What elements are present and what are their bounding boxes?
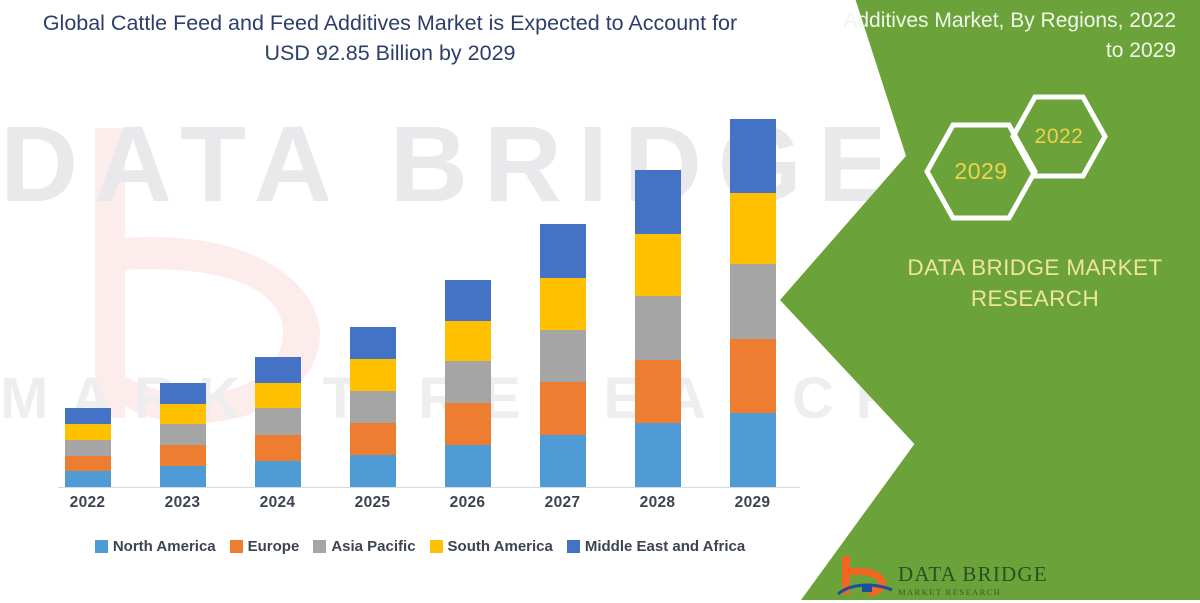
bar-segment[interactable]: [65, 424, 111, 440]
bar-segment[interactable]: [540, 382, 586, 434]
bar-segment[interactable]: [350, 327, 396, 359]
bar-segment[interactable]: [65, 408, 111, 424]
x-axis-label: 2023: [135, 494, 230, 512]
bridge-logo-icon: [836, 554, 894, 598]
legend-swatch: [430, 540, 443, 553]
bar-slot: [40, 110, 135, 487]
hexagon-badge-end: 2029: [925, 123, 1037, 220]
stacked-bar[interactable]: [445, 280, 491, 487]
chart-legend: North AmericaEuropeAsia PacificSouth Ame…: [40, 538, 800, 555]
bar-slot: [610, 110, 705, 487]
bar-segment[interactable]: [350, 359, 396, 390]
bar-segment[interactable]: [255, 357, 301, 383]
bar-segment[interactable]: [65, 440, 111, 456]
footer-logo: DATA BRIDGE MARKET RESEARCH: [836, 554, 1166, 600]
stacked-bar[interactable]: [255, 357, 301, 487]
bar-segment[interactable]: [540, 435, 586, 487]
x-axis-label: 2024: [230, 494, 325, 512]
x-axis-label: 2022: [40, 494, 135, 512]
x-axis-label: 2027: [515, 494, 610, 512]
plot-area: [40, 110, 800, 487]
bar-segment[interactable]: [255, 408, 301, 434]
bar-segment[interactable]: [635, 296, 681, 360]
bar-segment[interactable]: [730, 339, 776, 412]
bar-segment[interactable]: [730, 193, 776, 264]
bar-segment[interactable]: [730, 264, 776, 339]
bar-segment[interactable]: [255, 435, 301, 461]
stacked-bar[interactable]: [635, 170, 681, 487]
bar-segment[interactable]: [445, 361, 491, 403]
bar-segment[interactable]: [540, 278, 586, 330]
bar-segment[interactable]: [540, 330, 586, 382]
x-axis-label: 2026: [420, 494, 515, 512]
legend-label: North America: [113, 538, 216, 555]
x-axis-line: [58, 487, 800, 488]
stacked-bar[interactable]: [350, 327, 396, 487]
bar-group: [40, 110, 800, 487]
x-axis-label: 2028: [610, 494, 705, 512]
side-panel-title: Additives Market, By Regions, 2022 to 20…: [836, 6, 1176, 66]
legend-swatch: [313, 540, 326, 553]
bar-segment[interactable]: [350, 423, 396, 454]
legend-item[interactable]: North America: [95, 538, 216, 555]
legend-label: Asia Pacific: [331, 538, 415, 555]
bar-segment[interactable]: [160, 404, 206, 424]
x-axis-labels: 20222023202420252026202720282029: [40, 494, 800, 512]
bar-segment[interactable]: [255, 461, 301, 487]
legend-item[interactable]: Europe: [230, 538, 300, 555]
hexagon-badges: 2022 2029: [925, 95, 1115, 220]
bar-segment[interactable]: [635, 360, 681, 423]
bar-segment[interactable]: [635, 234, 681, 297]
bar-segment[interactable]: [540, 224, 586, 277]
stacked-bar[interactable]: [730, 119, 776, 487]
legend-item[interactable]: Asia Pacific: [313, 538, 415, 555]
hexagon-end-label: 2029: [925, 123, 1037, 220]
x-axis-label: 2029: [705, 494, 800, 512]
legend-swatch: [95, 540, 108, 553]
bar-slot: [230, 110, 325, 487]
bar-segment[interactable]: [730, 119, 776, 192]
bar-segment[interactable]: [445, 321, 491, 362]
bar-segment[interactable]: [160, 466, 206, 487]
page-title: Global Cattle Feed and Feed Additives Ma…: [40, 8, 740, 68]
x-axis-label: 2025: [325, 494, 420, 512]
bar-segment[interactable]: [160, 424, 206, 445]
bar-slot: [325, 110, 420, 487]
chart-panel: DATA BRIDGE MARKET RESEARCH Global Cattl…: [0, 0, 880, 600]
footer-logo-name: DATA BRIDGE: [898, 562, 1048, 587]
bar-slot: [515, 110, 610, 487]
legend-label: Europe: [248, 538, 300, 555]
legend-swatch: [230, 540, 243, 553]
legend-swatch: [567, 540, 580, 553]
bar-slot: [420, 110, 515, 487]
legend-item[interactable]: South America: [430, 538, 553, 555]
legend-item[interactable]: Middle East and Africa: [567, 538, 745, 555]
bar-segment[interactable]: [445, 403, 491, 445]
bar-segment[interactable]: [730, 413, 776, 487]
bar-segment[interactable]: [350, 455, 396, 487]
stacked-bar[interactable]: [160, 383, 206, 487]
bar-segment[interactable]: [445, 280, 491, 321]
legend-label: South America: [448, 538, 553, 555]
bar-segment[interactable]: [160, 445, 206, 466]
stacked-bar[interactable]: [540, 224, 586, 487]
bar-segment[interactable]: [445, 445, 491, 487]
legend-label: Middle East and Africa: [585, 538, 745, 555]
bar-segment[interactable]: [635, 423, 681, 487]
brand-name: DATA BRIDGE MARKET RESEARCH: [880, 252, 1190, 314]
footer-logo-tagline: MARKET RESEARCH: [898, 587, 1001, 597]
bar-segment[interactable]: [65, 471, 111, 487]
bar-slot: [135, 110, 230, 487]
bar-segment[interactable]: [65, 456, 111, 472]
bar-segment[interactable]: [160, 383, 206, 404]
stacked-bar[interactable]: [65, 408, 111, 487]
bar-segment[interactable]: [350, 391, 396, 423]
bar-segment[interactable]: [255, 383, 301, 408]
bar-segment[interactable]: [635, 170, 681, 234]
